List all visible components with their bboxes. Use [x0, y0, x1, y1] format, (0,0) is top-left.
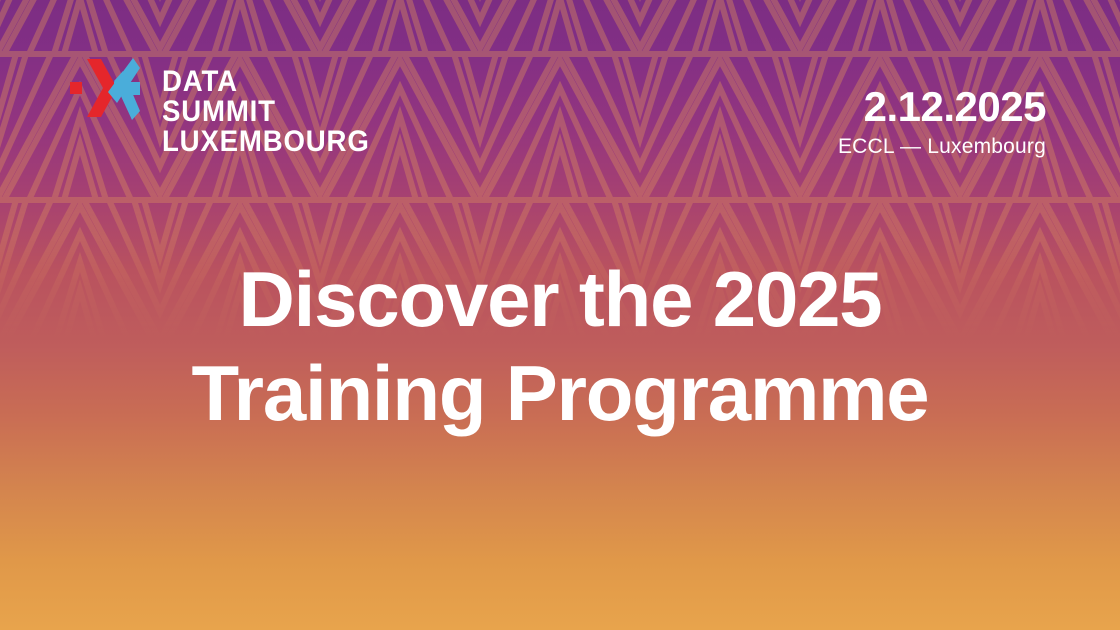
data-summit-chevron-mark-icon	[70, 57, 140, 123]
wordmark-line-data: DATA	[162, 67, 370, 97]
event-promo-banner: DATA SUMMIT LUXEMBOURG 2.12.2025 ECCL — …	[0, 0, 1120, 630]
brand-logo-block[interactable]: DATA SUMMIT LUXEMBOURG	[70, 55, 388, 157]
event-date-block: 2.12.2025 ECCL — Luxembourg	[838, 84, 1046, 160]
headline-block: Discover the 2025 Training Programme	[0, 252, 1120, 440]
event-date: 2.12.2025	[838, 84, 1046, 130]
headline-line-1: Discover the 2025	[40, 252, 1080, 346]
wordmark-line-luxembourg: LUXEMBOURG	[162, 127, 370, 157]
wordmark-line-summit: SUMMIT	[162, 97, 370, 127]
brand-wordmark: DATA SUMMIT LUXEMBOURG	[162, 67, 388, 157]
event-venue: ECCL — Luxembourg	[838, 134, 1046, 160]
headline-line-2: Training Programme	[40, 346, 1080, 440]
